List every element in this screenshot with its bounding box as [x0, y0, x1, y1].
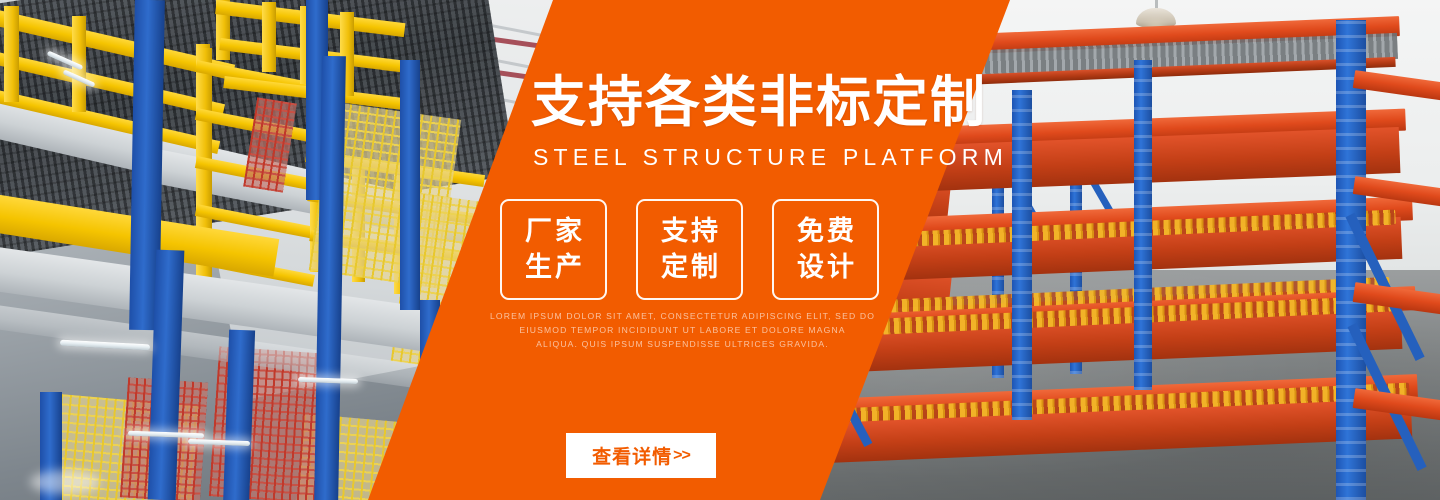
view-details-button[interactable]: 查看详情 >>	[566, 433, 716, 478]
view-details-label: 查看详情	[592, 442, 672, 469]
feature-box-customization[interactable]: 支持 定制	[636, 199, 743, 300]
description-line-1: Lorem ipsum dolor sit amet, consectetur …	[485, 310, 880, 324]
banner-description: Lorem ipsum dolor sit amet, consectetur …	[485, 310, 880, 352]
promo-banner: 支持各类非标定制 STEEL STRUCTURE PLATFORM 厂家 生产 …	[0, 0, 1440, 500]
feature-box-free-design[interactable]: 免费 设计	[772, 199, 879, 300]
chevron-right-icon: >>	[673, 447, 690, 465]
description-line-2: eiusmod tempor incididunt ut labore et d…	[485, 324, 880, 338]
feature-box-line1: 免费	[794, 214, 857, 250]
feature-box-line2: 生产	[522, 250, 585, 286]
feature-box-line1: 厂家	[522, 214, 585, 250]
feature-box-line2: 定制	[658, 250, 721, 286]
banner-headline: 支持各类非标定制	[531, 74, 987, 132]
description-line-3: aliqua. Quis ipsum suspendisse ultrices …	[485, 338, 880, 352]
feature-box-group: 厂家 生产 支持 定制 免费 设计	[500, 199, 879, 300]
feature-box-line2: 设计	[794, 250, 857, 286]
banner-content: 支持各类非标定制 STEEL STRUCTURE PLATFORM 厂家 生产 …	[0, 0, 1440, 500]
banner-subheadline: STEEL STRUCTURE PLATFORM	[533, 144, 1008, 171]
feature-box-manufacturer[interactable]: 厂家 生产	[500, 199, 607, 300]
feature-box-line1: 支持	[658, 214, 721, 250]
